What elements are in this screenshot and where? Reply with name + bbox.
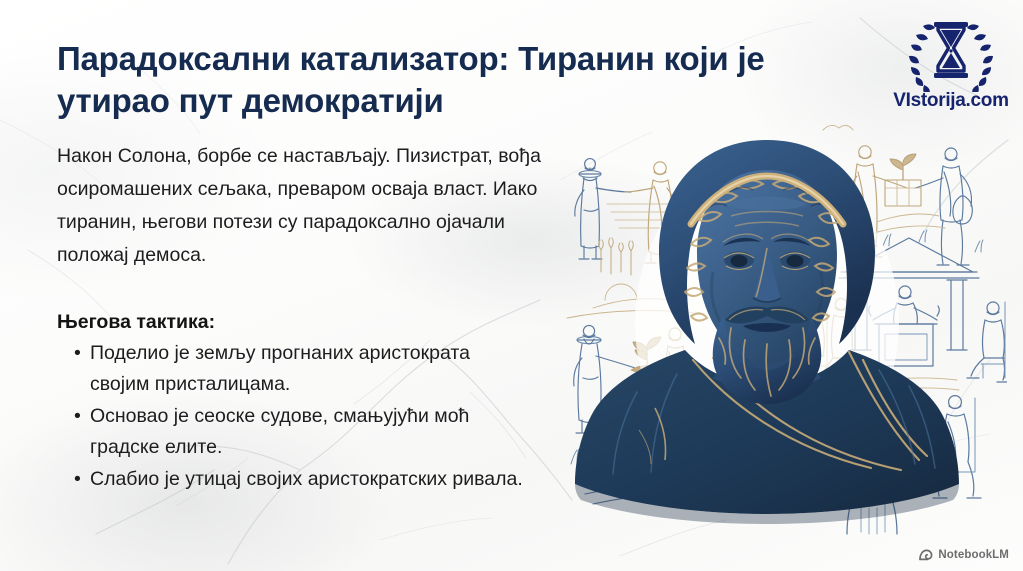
intro-paragraph: Након Солона, борбе се настављају. Пизис… bbox=[57, 140, 542, 272]
brand-logo[interactable]: VIstorija.com bbox=[887, 8, 1015, 120]
notebooklm-watermark: NotebookLM bbox=[919, 549, 1009, 561]
tactics-subheading: Његова тактика: bbox=[57, 308, 215, 336]
greek-statesman-bust bbox=[575, 140, 959, 524]
scene-landgrant-receiver bbox=[915, 148, 972, 265]
watermark-label: NotebookLM bbox=[938, 549, 1009, 561]
list-item-label: Поделио је земљу прогнаних аристократа с… bbox=[90, 342, 470, 395]
logo-wordmark: VIstorija.com bbox=[887, 90, 1015, 112]
slide-canvas: Парадоксални катализатор: Тиранин који ј… bbox=[0, 0, 1023, 571]
list-item: • Слабио је утицај својих аристократских… bbox=[57, 464, 527, 495]
pisistratus-bust-illustration bbox=[527, 112, 1007, 537]
illustration-artwork bbox=[527, 112, 1007, 537]
bullet-marker-icon: • bbox=[74, 338, 81, 369]
bullet-marker-icon: • bbox=[74, 464, 81, 495]
list-item: • Поделио је земљу прогнаних аристократа… bbox=[57, 338, 527, 400]
page-title: Парадоксални катализатор: Тиранин који ј… bbox=[57, 38, 857, 122]
wheat-cluster-top bbox=[599, 238, 634, 275]
bullet-marker-icon: • bbox=[74, 401, 81, 432]
seedling-crate-icon bbox=[885, 154, 921, 206]
list-item-label: Основао је сеоске судове, смањујући моћ … bbox=[90, 405, 469, 458]
grass-tufts-right bbox=[883, 230, 983, 252]
tactics-list: • Поделио је земљу прогнаних аристократа… bbox=[57, 338, 527, 496]
hourglass-laurel-icon bbox=[903, 8, 999, 92]
notebooklm-spiral-icon bbox=[919, 549, 933, 561]
list-item-label: Слабио је утицај својих аристократских р… bbox=[90, 468, 523, 490]
list-item: • Основао је сеоске судове, смањујући мо… bbox=[57, 401, 527, 463]
laurel-right bbox=[967, 24, 993, 92]
laurel-left bbox=[909, 24, 935, 92]
